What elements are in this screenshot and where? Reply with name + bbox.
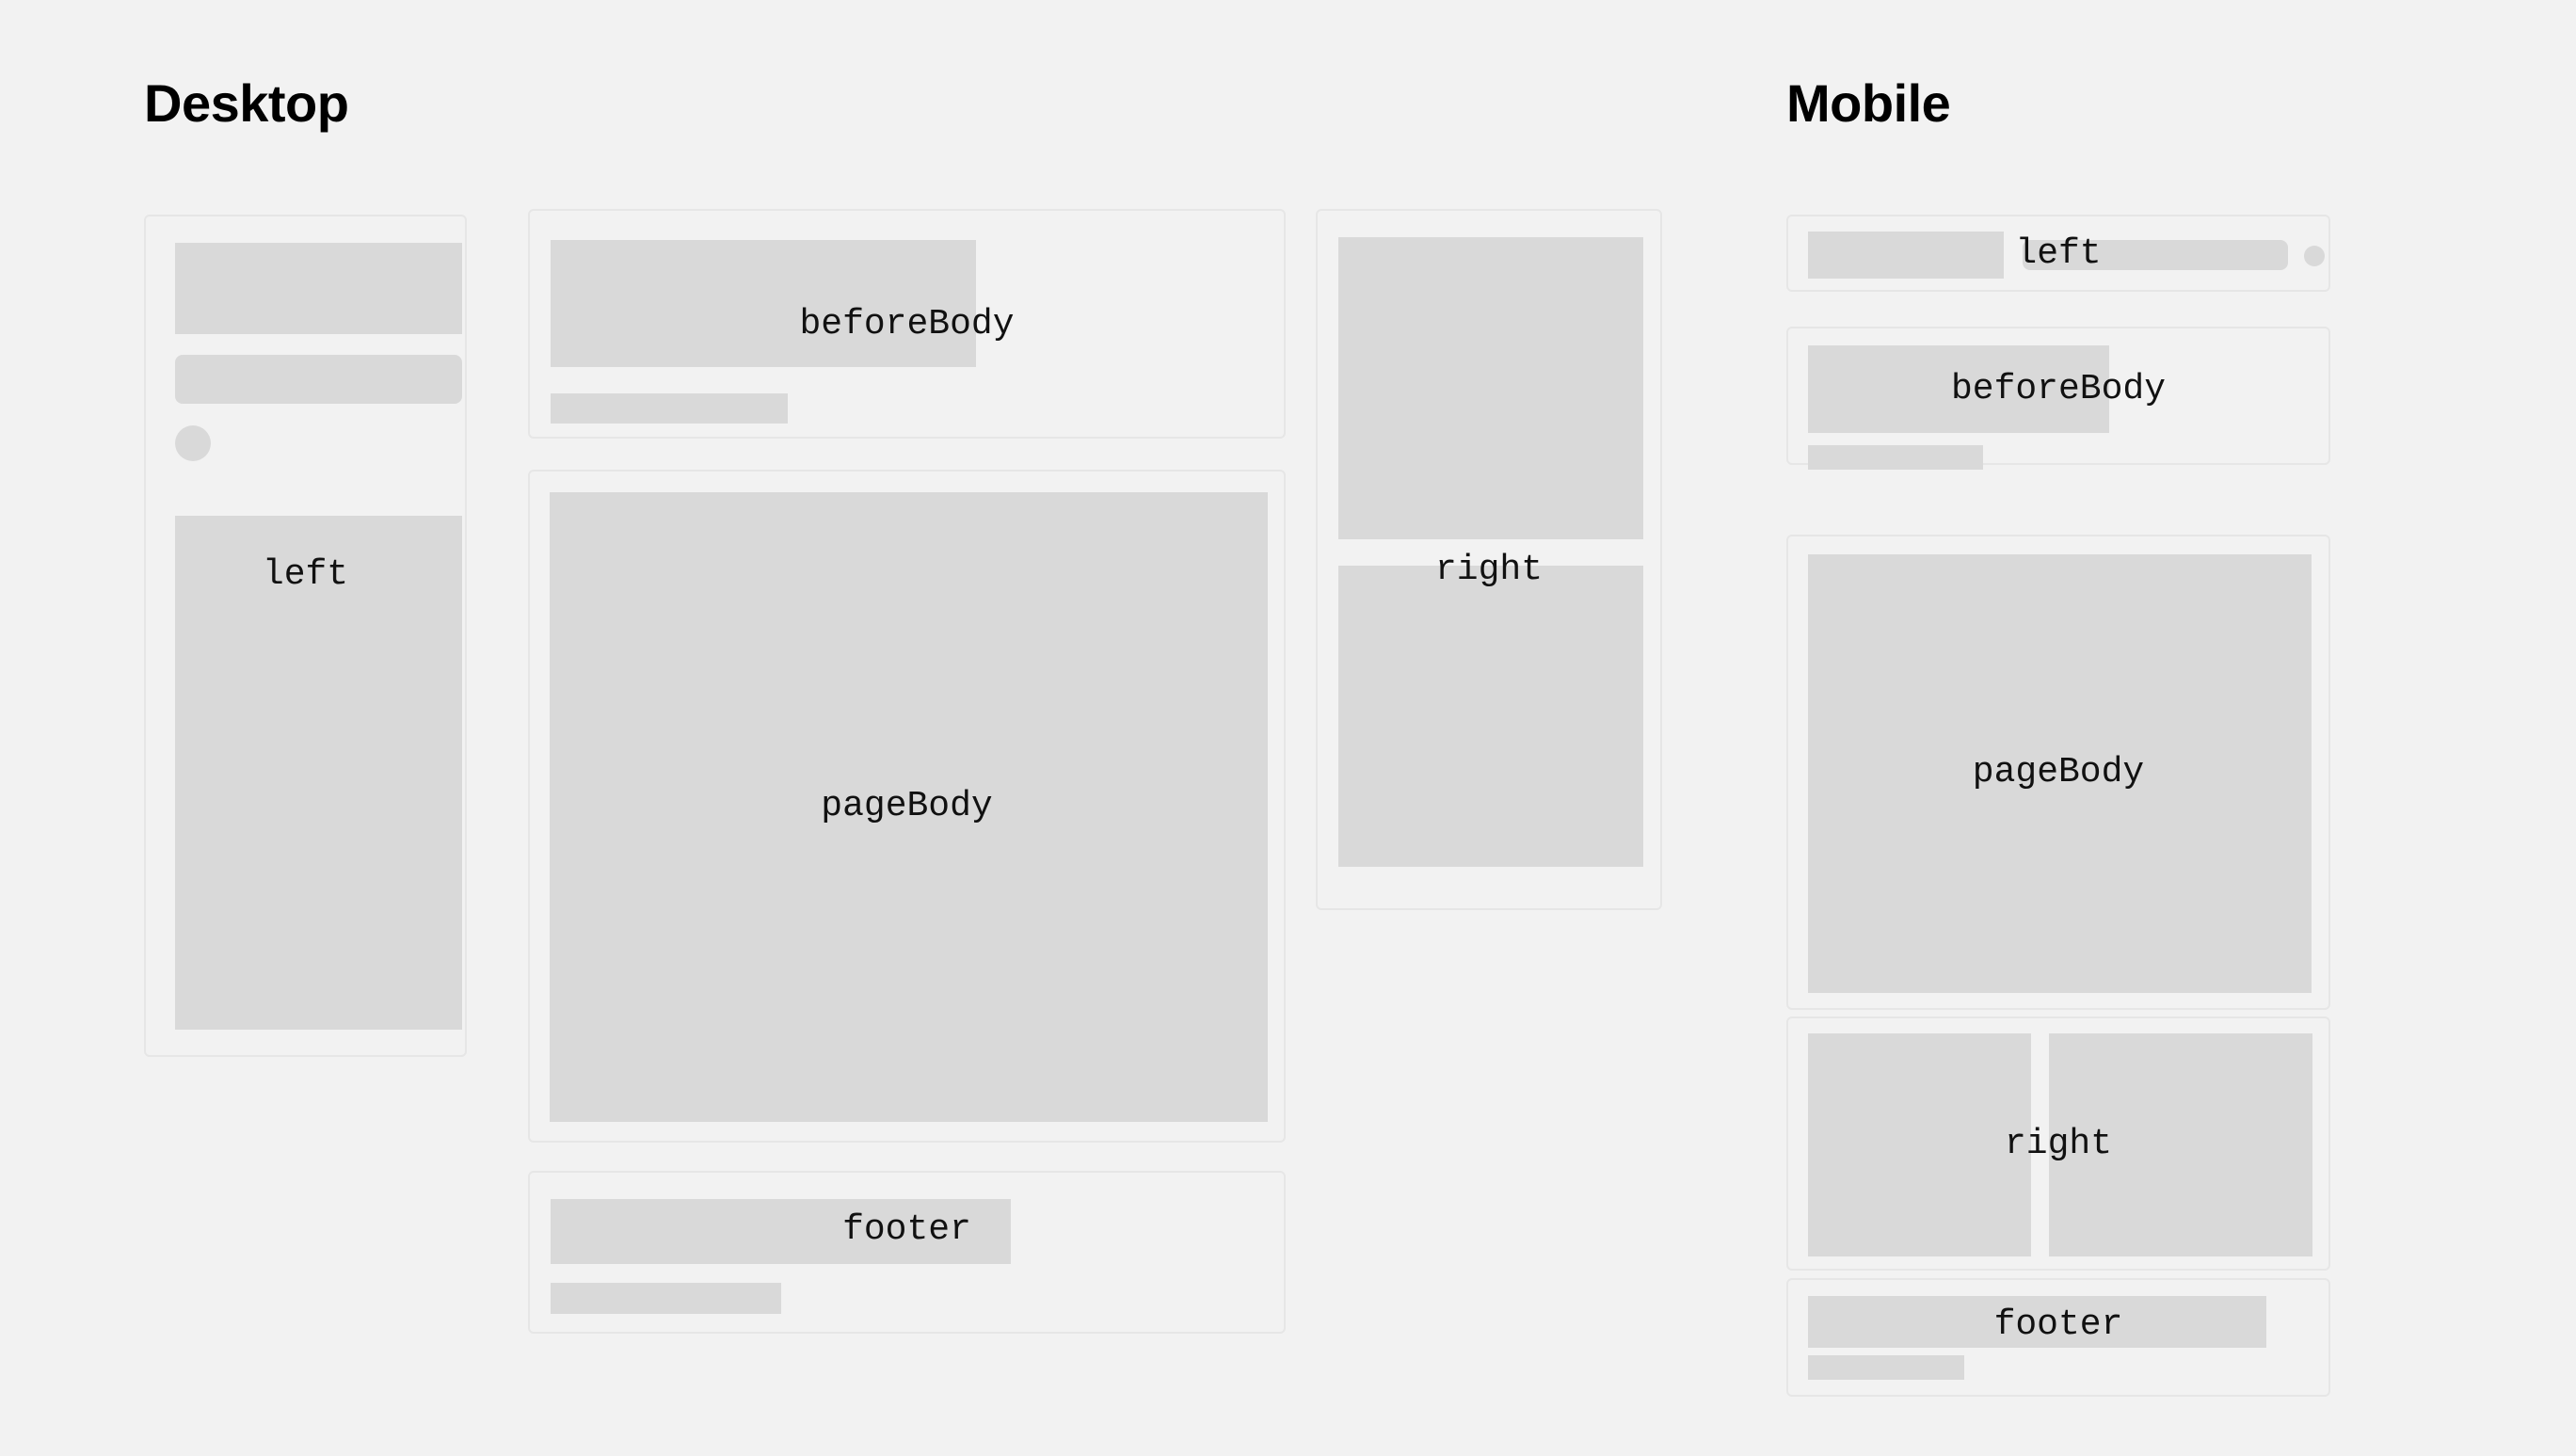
skeleton-block — [1808, 1296, 2266, 1348]
skeleton-block — [1338, 237, 1643, 539]
skeleton-block — [2049, 1033, 2312, 1256]
skeleton-block — [1808, 345, 2109, 433]
skeleton-block — [175, 243, 462, 334]
skeleton-bar — [551, 393, 788, 424]
skeleton-avatar-circle — [175, 425, 211, 461]
skeleton-block — [550, 492, 1268, 1122]
skeleton-bar — [1808, 1355, 1964, 1380]
desktop-region-footer[interactable] — [528, 1171, 1286, 1334]
desktop-region-page-body[interactable] — [528, 470, 1286, 1143]
mobile-region-page-body[interactable] — [1786, 535, 2330, 1010]
skeleton-block — [551, 240, 976, 367]
mobile-region-left[interactable] — [1786, 215, 2330, 292]
skeleton-block — [1808, 554, 2312, 993]
mobile-region-before-body[interactable] — [1786, 327, 2330, 465]
skeleton-bar — [2023, 240, 2288, 270]
skeleton-block — [551, 1199, 1011, 1264]
skeleton-bar — [551, 1283, 781, 1314]
desktop-region-right[interactable] — [1316, 209, 1662, 910]
mobile-region-footer[interactable] — [1786, 1278, 2330, 1397]
skeleton-block — [175, 516, 462, 1030]
mobile-region-right[interactable] — [1786, 1016, 2330, 1271]
skeleton-block — [1808, 232, 2004, 279]
desktop-region-before-body[interactable] — [528, 209, 1286, 439]
skeleton-avatar-circle — [2304, 246, 2325, 266]
skeleton-bar — [175, 355, 462, 404]
mobile-section-title: Mobile — [1786, 77, 1950, 130]
skeleton-bar — [1808, 445, 1983, 470]
skeleton-block — [1338, 566, 1643, 867]
layout-preview-canvas: Desktop left beforeBody pageBody footer … — [0, 0, 2576, 1456]
desktop-section-title: Desktop — [144, 77, 348, 130]
desktop-region-left[interactable] — [144, 215, 467, 1057]
skeleton-block — [1808, 1033, 2031, 1256]
